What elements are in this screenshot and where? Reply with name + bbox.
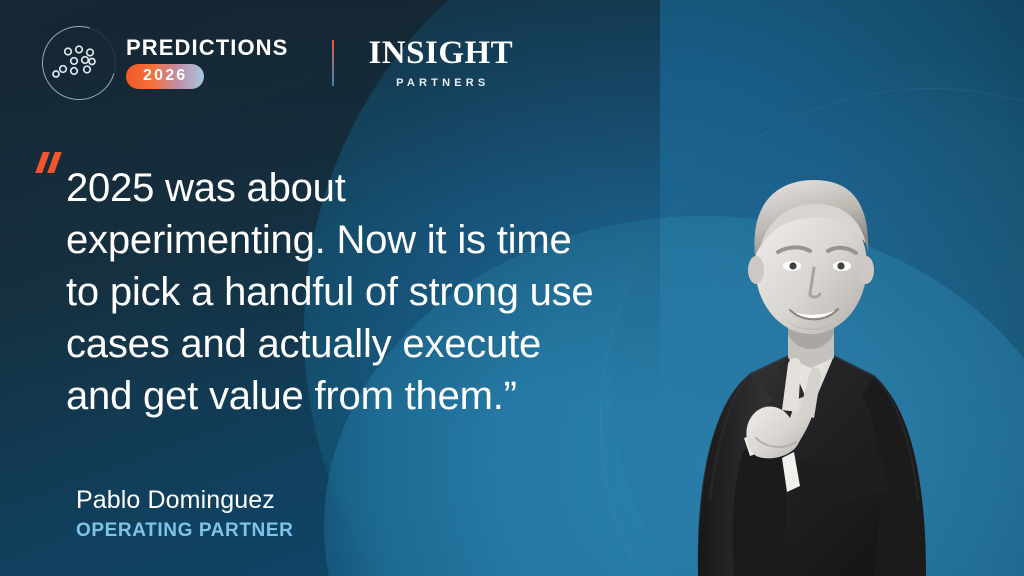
logo-lockup: PREDICTIONS 2026 INSIGHT PARTNERS	[38, 20, 513, 106]
partners-wordmark: PARTNERS	[396, 78, 489, 89]
attribution: Pablo Dominguez OPERATING PARTNER	[76, 485, 293, 544]
quote-text: 2025 was about experimenting. Now it is …	[66, 162, 656, 422]
quote-line: and get value from them.”	[66, 370, 656, 422]
background-arc-ring	[600, 88, 1024, 576]
vertical-gradient-divider	[332, 40, 334, 86]
quote-line: 2025 was about	[66, 162, 656, 214]
predictions-wordmark: PREDICTIONS 2026	[126, 37, 288, 89]
insight-wordmark: INSIGHT	[368, 37, 513, 70]
double-slash-quote-icon	[36, 152, 70, 178]
predictions-year-badge: 2026	[126, 64, 204, 89]
predictions-title: PREDICTIONS	[126, 37, 288, 59]
insight-partners-logo: INSIGHT PARTNERS	[368, 37, 513, 89]
quote-line: to pick a handful of strong use	[66, 266, 656, 318]
quote-line: experimenting. Now it is time	[66, 214, 656, 266]
quote-card: PREDICTIONS 2026 INSIGHT PARTNERS 2025 w…	[0, 0, 1024, 576]
person-portrait-photo	[638, 106, 968, 576]
quote-line: cases and actually execute	[66, 318, 656, 370]
speaker-name: Pablo Dominguez	[76, 485, 293, 516]
speaker-role: OPERATING PARTNER	[76, 518, 293, 544]
dots-arrow-circle-icon	[38, 22, 120, 104]
background-soft-arc	[612, 66, 1024, 576]
